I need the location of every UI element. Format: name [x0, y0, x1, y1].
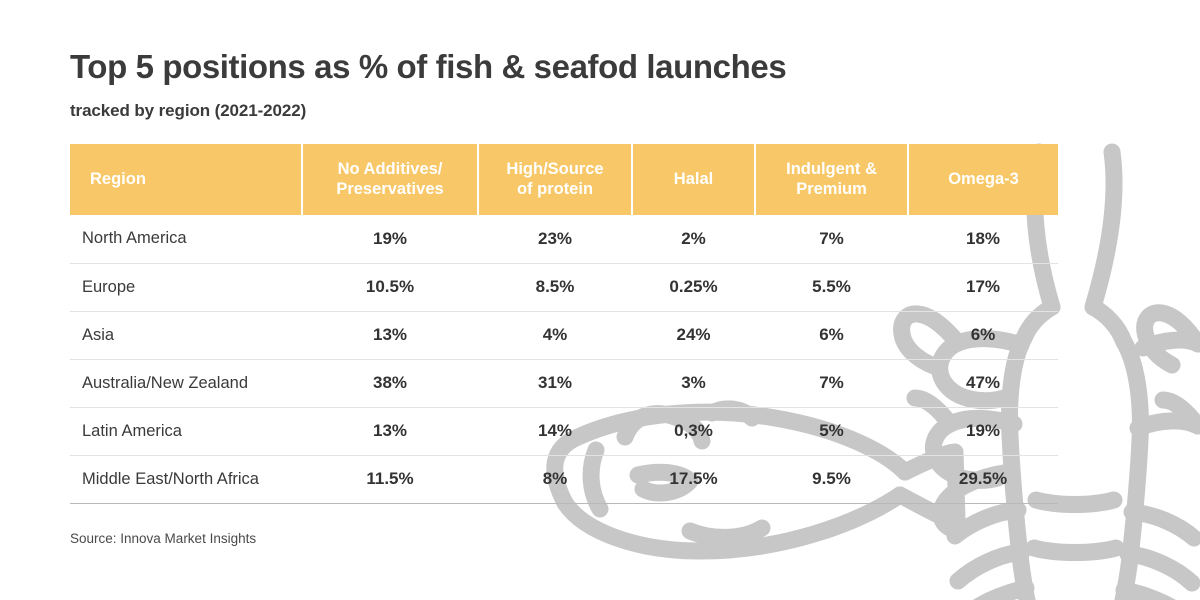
cell-no-additives: 19%	[302, 215, 478, 263]
column-header-no-additives-line1: No Additives/	[338, 160, 443, 178]
cell-halal: 3%	[632, 359, 755, 407]
table-row: North America 19% 23% 2% 7% 18%	[70, 215, 1058, 263]
cell-region: Asia	[70, 311, 302, 359]
page-subtitle: tracked by region (2021-2022)	[70, 101, 306, 121]
cell-region: North America	[70, 215, 302, 263]
cell-halal: 17.5%	[632, 455, 755, 503]
cell-high-source-protein: 23%	[478, 215, 632, 263]
cell-high-source-protein: 8.5%	[478, 263, 632, 311]
cell-indulgent-premium: 7%	[755, 359, 908, 407]
cell-region: Europe	[70, 263, 302, 311]
cell-high-source-protein: 4%	[478, 311, 632, 359]
cell-indulgent-premium: 9.5%	[755, 455, 908, 503]
column-header-indulgent-premium-line2: Premium	[796, 180, 867, 198]
table-header-row: Region No Additives/ Preservatives High/…	[70, 144, 1058, 215]
table-header: Region No Additives/ Preservatives High/…	[70, 144, 1058, 215]
cell-omega-3: 47%	[908, 359, 1058, 407]
cell-omega-3: 17%	[908, 263, 1058, 311]
column-header-region-line1: Region	[90, 170, 146, 188]
cell-halal: 0.25%	[632, 263, 755, 311]
cell-high-source-protein: 14%	[478, 407, 632, 455]
content-layer: Top 5 positions as % of fish & seafod la…	[0, 0, 1200, 600]
cell-omega-3: 29.5%	[908, 455, 1058, 503]
column-header-indulgent-premium[interactable]: Indulgent & Premium	[755, 144, 908, 215]
column-header-omega-3[interactable]: Omega-3	[908, 144, 1058, 215]
cell-no-additives: 38%	[302, 359, 478, 407]
cell-omega-3: 6%	[908, 311, 1058, 359]
cell-no-additives: 13%	[302, 311, 478, 359]
column-header-no-additives[interactable]: No Additives/ Preservatives	[302, 144, 478, 215]
column-header-omega-3-line1: Omega-3	[948, 170, 1019, 188]
cell-region: Middle East/North Africa	[70, 455, 302, 503]
column-header-halal-line1: Halal	[674, 170, 713, 188]
column-header-indulgent-premium-line1: Indulgent &	[786, 160, 877, 178]
cell-no-additives: 13%	[302, 407, 478, 455]
table-row: Latin America 13% 14% 0,3% 5% 19%	[70, 407, 1058, 455]
cell-indulgent-premium: 6%	[755, 311, 908, 359]
cell-halal: 0,3%	[632, 407, 755, 455]
cell-omega-3: 18%	[908, 215, 1058, 263]
cell-region: Australia/New Zealand	[70, 359, 302, 407]
table-row: Europe 10.5% 8.5% 0.25% 5.5% 17%	[70, 263, 1058, 311]
table-row: Australia/New Zealand 38% 31% 3% 7% 47%	[70, 359, 1058, 407]
cell-indulgent-premium: 5.5%	[755, 263, 908, 311]
table-row: Asia 13% 4% 24% 6% 6%	[70, 311, 1058, 359]
cell-omega-3: 19%	[908, 407, 1058, 455]
column-header-high-source-protein-line1: High/Source	[506, 160, 603, 178]
column-header-high-source-protein-line2: of protein	[517, 180, 593, 198]
data-table: Region No Additives/ Preservatives High/…	[70, 144, 1058, 504]
column-header-region[interactable]: Region	[70, 144, 302, 215]
infographic-canvas: Top 5 positions as % of fish & seafod la…	[0, 0, 1200, 600]
cell-region: Latin America	[70, 407, 302, 455]
cell-indulgent-premium: 5%	[755, 407, 908, 455]
source-attribution: Source: Innova Market Insights	[70, 531, 256, 546]
cell-no-additives: 11.5%	[302, 455, 478, 503]
cell-high-source-protein: 31%	[478, 359, 632, 407]
cell-halal: 2%	[632, 215, 755, 263]
column-header-halal[interactable]: Halal	[632, 144, 755, 215]
page-title: Top 5 positions as % of fish & seafod la…	[70, 48, 786, 86]
column-header-high-source-protein[interactable]: High/Source of protein	[478, 144, 632, 215]
column-header-no-additives-line2: Preservatives	[336, 180, 443, 198]
table-body: North America 19% 23% 2% 7% 18% Europe 1…	[70, 215, 1058, 503]
cell-indulgent-premium: 7%	[755, 215, 908, 263]
cell-high-source-protein: 8%	[478, 455, 632, 503]
cell-halal: 24%	[632, 311, 755, 359]
table-row: Middle East/North Africa 11.5% 8% 17.5% …	[70, 455, 1058, 503]
cell-no-additives: 10.5%	[302, 263, 478, 311]
